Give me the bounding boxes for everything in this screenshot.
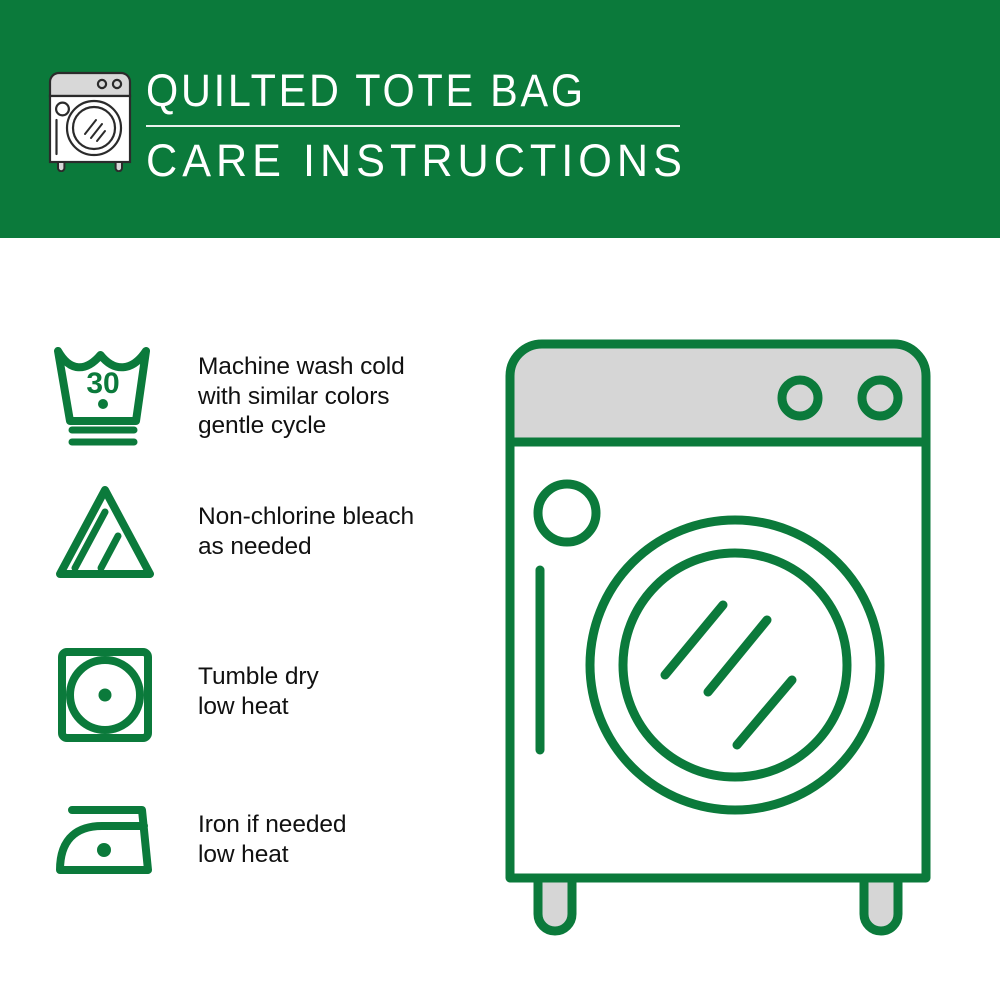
care-instructions-list: 30 Machine wash cold with similar colors… [0,238,480,1000]
care-item-tumble-dry: Tumble dry low heat [50,638,470,748]
washer-foot-right [864,878,898,931]
page-title: CARE INSTRUCTIONS [146,135,684,187]
care-item-iron: Iron if needed low heat [50,786,470,896]
care-item-non-chlorine-bleach: Non-chlorine bleach as needed [50,478,470,588]
care-instructions-infographic: QUILTED TOTE BAG CARE INSTRUCTIONS 30 [0,0,1000,1000]
front-load-washing-machine-illustration [480,320,990,950]
care-item-text: Tumble dry low heat [198,638,319,721]
care-item-text: Iron if needed low heat [198,786,346,869]
washing-machine-icon [44,68,136,172]
title-divider [146,125,680,127]
care-item-text: Non-chlorine bleach as needed [198,478,414,561]
care-item-text: Machine wash cold with similar colors ge… [198,338,405,441]
header-band: QUILTED TOTE BAG CARE INSTRUCTIONS [0,0,1000,238]
wash-tub-30-gentle-icon: 30 [50,338,160,448]
product-title: QUILTED TOTE BAG [146,66,661,116]
care-item-machine-wash: 30 Machine wash cold with similar colors… [50,338,470,448]
tumble-dry-low-icon [50,638,160,748]
washer-foot-left [538,878,572,931]
iron-low-heat-icon [50,786,160,896]
triangle-stripes-bleach-icon [50,478,160,588]
wash-temperature-label: 30 [86,367,119,400]
header-text-block: QUILTED TOTE BAG CARE INSTRUCTIONS [146,66,706,187]
